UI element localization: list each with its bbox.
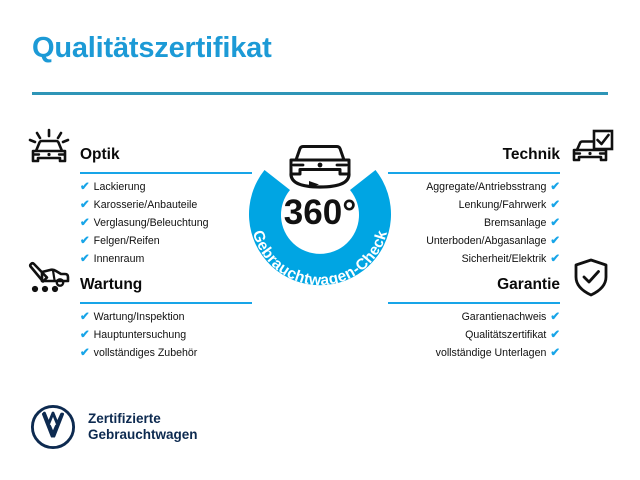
section-optik: Optik ✔Lackierung ✔Karosserie/Anbauteile…	[22, 126, 252, 172]
footer-line-1: Zertifizierte	[88, 411, 198, 427]
list-item-label: Karosserie/Anbauteile	[94, 199, 198, 211]
list-item-label: Bremsanlage	[484, 217, 546, 229]
section-title: Wartung	[80, 276, 142, 294]
list-item: ✔Karosserie/Anbauteile	[80, 198, 209, 214]
page-title: Qualitätszertifikat	[32, 32, 272, 65]
list-item: Aggregate/Antriebsstrang✔	[426, 180, 560, 196]
footer-line-2: Gebrauchtwagen	[88, 427, 198, 443]
section-garantie: Garantie Garantienachweis✔ Qualitätszert…	[388, 256, 618, 302]
check-icon: ✔	[550, 347, 560, 359]
list-item-label: Unterboden/Abgasanlage	[426, 235, 546, 247]
section-title: Optik	[80, 146, 120, 164]
badge-center-label: 360°	[284, 193, 356, 232]
check-icon: ✔	[80, 181, 90, 193]
list-item: ✔Lackierung	[80, 180, 209, 196]
shield-check-icon	[564, 256, 618, 300]
check-icon: ✔	[80, 235, 90, 247]
check-icon: ✔	[550, 329, 560, 341]
vw-certified-footer: Zertifizierte Gebrauchtwagen	[30, 404, 198, 450]
list-item: Bremsanlage✔	[426, 216, 560, 232]
section-header: Garantie	[388, 256, 618, 302]
section-underline	[80, 302, 252, 304]
section-technik: Technik Aggregate/Antriebsstrang✔ Lenkun…	[388, 126, 618, 172]
list-item: ✔vollständiges Zubehör	[80, 346, 197, 362]
section-title: Technik	[503, 146, 560, 164]
section-header: Wartung	[22, 256, 252, 302]
vw-logo-icon	[30, 404, 76, 450]
list-item: vollständige Unterlagen✔	[436, 346, 560, 362]
list-item-label: Lackierung	[94, 181, 146, 193]
360-check-badge: Gebrauchtwagen-Check 360°	[228, 116, 412, 300]
list-item: ✔Hauptuntersuchung	[80, 328, 197, 344]
list-item-label: Garantienachweis	[462, 311, 547, 323]
car-checkbox-icon	[564, 126, 618, 170]
list-item-label: Verglasung/Beleuchtung	[94, 217, 209, 229]
section-underline	[80, 172, 252, 174]
car-service-wrench-icon	[22, 256, 76, 300]
check-icon: ✔	[550, 181, 560, 193]
section-underline	[388, 302, 560, 304]
section-wartung: Wartung ✔Wartung/Inspektion ✔Hauptunters…	[22, 256, 252, 302]
list-item: Qualitätszertifikat✔	[436, 328, 560, 344]
list-item-label: Felgen/Reifen	[94, 235, 160, 247]
list-item: ✔Felgen/Reifen	[80, 234, 209, 250]
section-header: Technik	[388, 126, 618, 172]
section-underline	[388, 172, 560, 174]
list-item-label: vollständiges Zubehör	[94, 347, 198, 359]
checklist-wartung: ✔Wartung/Inspektion ✔Hauptuntersuchung ✔…	[80, 310, 197, 364]
list-item-label: Qualitätszertifikat	[465, 329, 546, 341]
check-icon: ✔	[550, 199, 560, 211]
checklist-garantie: Garantienachweis✔ Qualitätszertifikat✔ v…	[436, 310, 560, 364]
list-item: ✔Wartung/Inspektion	[80, 310, 197, 326]
list-item-label: Wartung/Inspektion	[94, 311, 185, 323]
check-icon: ✔	[550, 235, 560, 247]
check-icon: ✔	[80, 347, 90, 359]
certificate-page: Qualitätszertifikat	[0, 0, 640, 480]
list-item: Unterboden/Abgasanlage✔	[426, 234, 560, 250]
header-divider	[32, 92, 608, 95]
list-item-label: Aggregate/Antriebsstrang	[426, 181, 546, 193]
list-item: Garantienachweis✔	[436, 310, 560, 326]
list-item-label: vollständige Unterlagen	[436, 347, 547, 359]
list-item: ✔Verglasung/Beleuchtung	[80, 216, 209, 232]
check-icon: ✔	[550, 217, 560, 229]
list-item-label: Lenkung/Fahrwerk	[459, 199, 547, 211]
footer-text: Zertifizierte Gebrauchtwagen	[88, 411, 198, 443]
list-item: Lenkung/Fahrwerk✔	[426, 198, 560, 214]
section-title: Garantie	[497, 276, 560, 294]
check-icon: ✔	[80, 217, 90, 229]
sparkle-car-icon	[22, 126, 76, 170]
check-icon: ✔	[80, 329, 90, 341]
list-item-label: Hauptuntersuchung	[94, 329, 186, 341]
car-rotate-360-icon	[291, 147, 349, 189]
check-icon: ✔	[80, 199, 90, 211]
check-icon: ✔	[80, 311, 90, 323]
section-header: Optik	[22, 126, 252, 172]
check-icon: ✔	[550, 311, 560, 323]
